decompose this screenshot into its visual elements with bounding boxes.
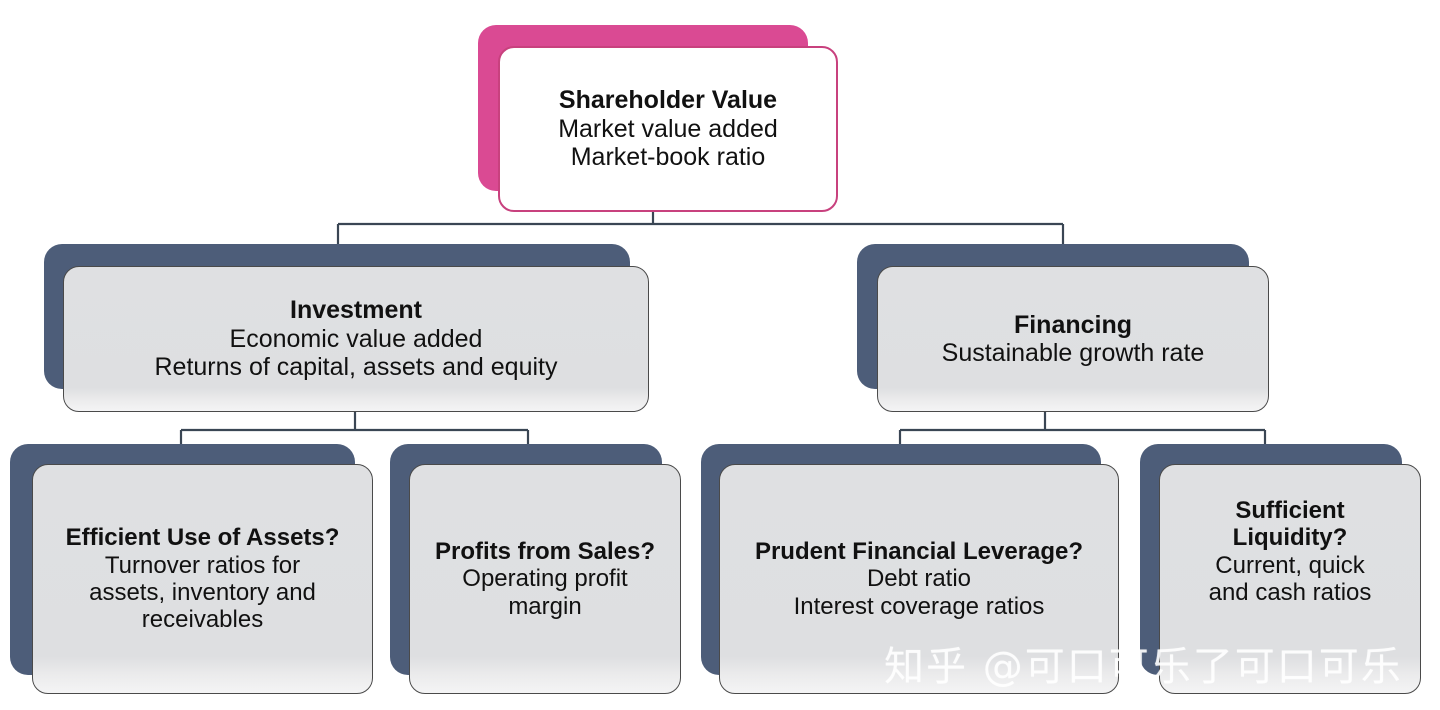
node-body[interactable]: Prudent Financial Leverage? Debt ratio I… (719, 464, 1119, 694)
node-financing[interactable]: Financing Sustainable growth rate (857, 244, 1269, 412)
node-line-1: Debt ratio (867, 565, 971, 592)
node-line-2: assets, inventory and (89, 579, 316, 606)
node-line-title: Shareholder Value (559, 86, 777, 115)
node-line-title: Sufficient (1235, 497, 1344, 524)
node-shareholder-value[interactable]: Shareholder Value Market value added Mar… (478, 25, 838, 212)
node-line-title: Investment (290, 296, 422, 325)
node-line-title: Profits from Sales? (435, 538, 655, 565)
node-line-title-2: Liquidity? (1233, 524, 1348, 551)
node-body[interactable]: Shareholder Value Market value added Mar… (498, 46, 838, 212)
node-line-1: Economic value added (230, 325, 483, 354)
node-line-1: Turnover ratios for (105, 552, 300, 579)
node-body[interactable]: Investment Economic value added Returns … (63, 266, 649, 412)
node-profits-from-sales[interactable]: Profits from Sales? Operating profit mar… (390, 444, 681, 694)
node-prudent-financial-leverage[interactable]: Prudent Financial Leverage? Debt ratio I… (701, 444, 1119, 694)
node-body[interactable]: Financing Sustainable growth rate (877, 266, 1269, 412)
node-line-3: receivables (142, 606, 263, 633)
node-line-title: Financing (1014, 311, 1132, 340)
node-line-2: Current, quick (1215, 552, 1364, 579)
node-sufficient-liquidity[interactable]: Sufficient Liquidity? Current, quick and… (1140, 444, 1421, 694)
node-line-3: and cash ratios (1209, 579, 1372, 606)
node-line-2: Market-book ratio (571, 143, 766, 172)
node-body[interactable]: Profits from Sales? Operating profit mar… (409, 464, 681, 694)
node-line-1: Operating profit (462, 565, 627, 592)
node-line-title: Prudent Financial Leverage? (755, 538, 1083, 565)
node-efficient-use-of-assets[interactable]: Efficient Use of Assets? Turnover ratios… (10, 444, 373, 694)
node-line-2: margin (508, 593, 581, 620)
node-body[interactable]: Efficient Use of Assets? Turnover ratios… (32, 464, 373, 694)
node-line-title: Efficient Use of Assets? (66, 524, 340, 551)
node-investment[interactable]: Investment Economic value added Returns … (44, 244, 649, 412)
node-body[interactable]: Sufficient Liquidity? Current, quick and… (1159, 464, 1421, 694)
node-line-1: Market value added (558, 115, 778, 144)
diagram-canvas: Shareholder Value Market value added Mar… (0, 0, 1440, 710)
node-line-2: Returns of capital, assets and equity (154, 353, 557, 382)
node-line-1: Sustainable growth rate (942, 339, 1205, 368)
node-line-2: Interest coverage ratios (794, 593, 1045, 620)
